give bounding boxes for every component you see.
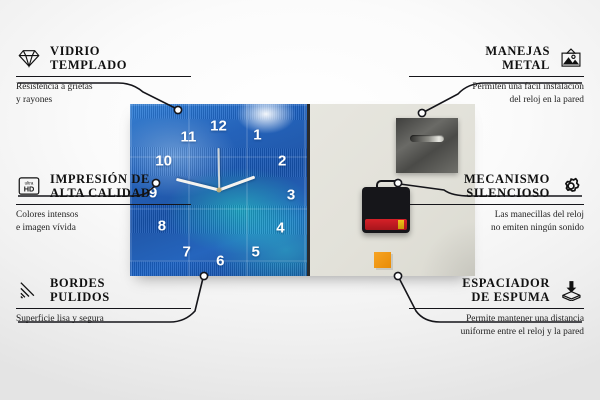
metal-hanger-plate bbox=[396, 118, 458, 173]
feature-title: BORDESPULIDOS bbox=[50, 276, 110, 305]
feature-divider bbox=[16, 308, 191, 309]
feature-divider bbox=[409, 76, 584, 77]
feature-divider bbox=[16, 76, 191, 77]
feature-description: Superficie lisa y segura bbox=[16, 313, 191, 325]
feature-description: Colores intensose imagen vívida bbox=[16, 209, 191, 234]
quartz-movement bbox=[362, 187, 410, 233]
feature-divider bbox=[409, 204, 584, 205]
feature-vidrio-templado[interactable]: VIDRIOTEMPLADO Resistencia a grietasy ra… bbox=[16, 44, 191, 106]
ultra-hd-icon: ultra HD bbox=[16, 175, 42, 197]
feature-manejas-metal[interactable]: MANEJASMETAL Permiten una fácil instalac… bbox=[409, 44, 584, 106]
clock-numeral-10: 10 bbox=[155, 153, 172, 168]
gear-icon bbox=[558, 175, 584, 197]
clock-numeral-3: 3 bbox=[287, 188, 295, 203]
clock-center-pivot bbox=[216, 188, 221, 193]
feature-description: Permite mantener una distanciauniforme e… bbox=[409, 313, 584, 338]
feature-divider bbox=[16, 204, 191, 205]
clock-numeral-12: 12 bbox=[210, 119, 227, 134]
picture-hanger-icon bbox=[558, 47, 584, 69]
foam-spacer-pad bbox=[374, 252, 391, 268]
clock-numeral-1: 1 bbox=[253, 127, 261, 142]
diamond-icon bbox=[16, 47, 42, 69]
clock-numeral-4: 4 bbox=[276, 220, 284, 235]
polished-edges-icon bbox=[16, 279, 42, 301]
feature-espaciador-de-espuma[interactable]: ESPACIADORDE ESPUMA Permite mantener una… bbox=[409, 276, 584, 338]
feature-bordes-pulidos[interactable]: BORDESPULIDOS Superficie lisa y segura bbox=[16, 276, 191, 326]
movement-hanger-tab bbox=[376, 180, 400, 191]
feature-title: MANEJASMETAL bbox=[485, 44, 550, 73]
clock-numeral-7: 7 bbox=[182, 244, 190, 259]
feature-description: Resistencia a grietasy rayones bbox=[16, 81, 191, 106]
clock-numeral-2: 2 bbox=[278, 153, 286, 168]
clock-numeral-6: 6 bbox=[216, 253, 224, 268]
feature-mecanismo-silencioso[interactable]: MECANISMOSILENCIOSO Las manecillas del r… bbox=[409, 172, 584, 234]
feature-description: Permiten una fácil instalacióndel reloj … bbox=[409, 81, 584, 106]
feature-impresion-alta-calidad[interactable]: ultra HD IMPRESIÓN DEALTA CALIDAD Colore… bbox=[16, 172, 191, 234]
hanger-keyhole-slot bbox=[410, 135, 444, 142]
battery bbox=[365, 219, 407, 230]
feature-title: IMPRESIÓN DEALTA CALIDAD bbox=[50, 172, 151, 201]
clock-numeral-11: 11 bbox=[180, 129, 196, 144]
feature-title: MECANISMOSILENCIOSO bbox=[464, 172, 550, 201]
clock-numeral-5: 5 bbox=[251, 244, 259, 259]
feature-description: Las manecillas del relojno emiten ningún… bbox=[409, 209, 584, 234]
clock-face-highlight bbox=[236, 104, 296, 134]
foam-spacer-icon bbox=[558, 279, 584, 301]
feature-divider bbox=[409, 308, 584, 309]
svg-text:HD: HD bbox=[24, 185, 35, 194]
feature-title: ESPACIADORDE ESPUMA bbox=[462, 276, 550, 305]
feature-title: VIDRIOTEMPLADO bbox=[50, 44, 127, 73]
infographic-canvas: 12 1 2 3 4 5 6 7 8 9 10 11 bbox=[0, 0, 600, 400]
clock-second-hand bbox=[217, 148, 219, 190]
